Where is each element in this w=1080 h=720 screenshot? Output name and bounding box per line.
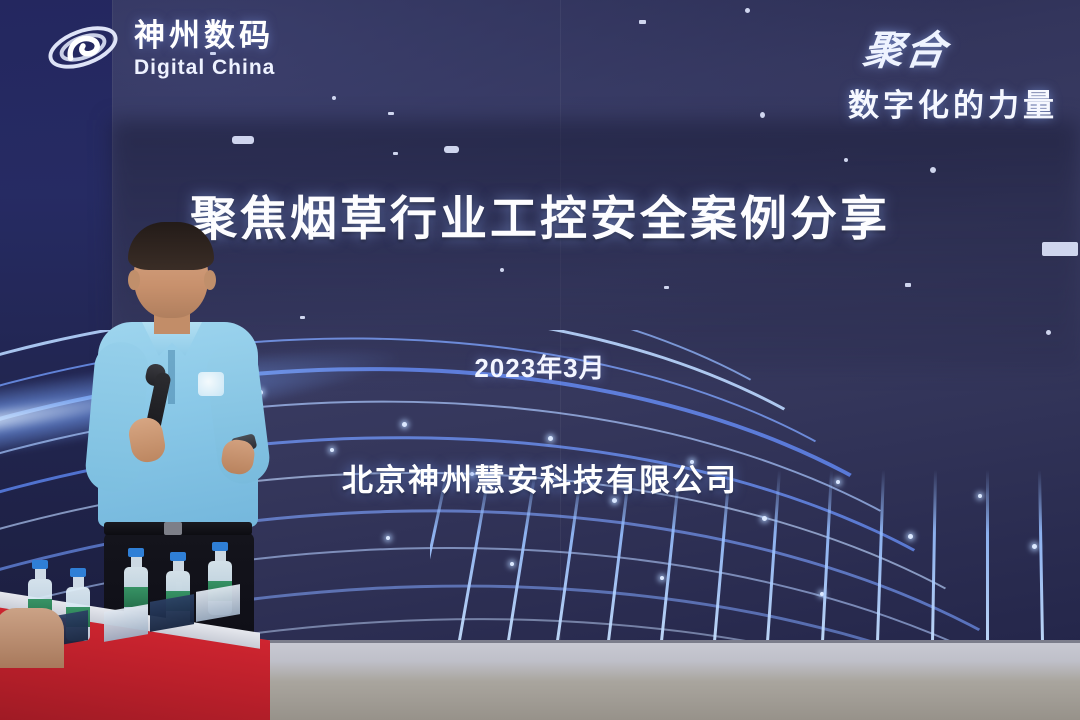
slogan-calligraphy: 聚合 xyxy=(844,18,952,76)
slogan-subtitle: 数字化的力量 xyxy=(848,80,1058,125)
screenshot-root: 聚焦烟草行业工控安全案例分享 2023年3月 北京神州慧安科技有限公司 神州数码… xyxy=(0,0,1080,720)
speaker-ear xyxy=(204,270,216,290)
brand-name-en: Digital China xyxy=(134,57,275,78)
brand-text: 神州数码 Digital China xyxy=(134,20,275,78)
swirl-spiral-icon xyxy=(44,18,122,80)
speaker-hair xyxy=(128,222,214,270)
brand-logo: 神州数码 Digital China xyxy=(44,18,275,80)
speaker-shirt-logo xyxy=(198,372,224,396)
event-slogan: 聚合 数字化的力量 xyxy=(848,18,1058,125)
speaker-belt-buckle xyxy=(164,522,182,535)
front-row-attendee xyxy=(0,608,64,668)
speaker-ear xyxy=(128,270,140,290)
brand-name-cn: 神州数码 xyxy=(134,20,275,51)
